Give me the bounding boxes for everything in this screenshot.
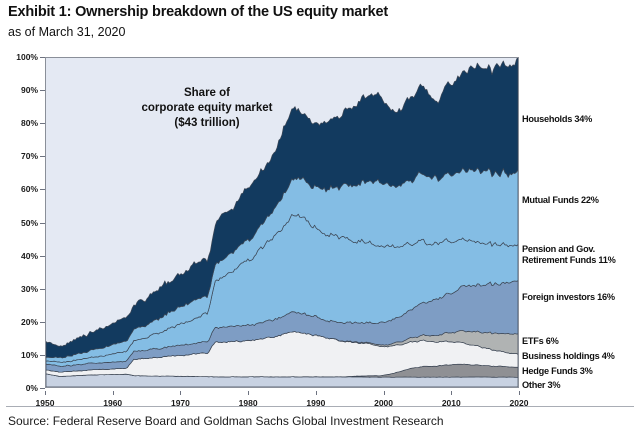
y-axis-tick-label: 50% [21,218,38,228]
annotation-line-3: ($43 trillion) [92,116,322,131]
x-axis-tick-mark [519,391,520,395]
y-axis-tick-label: 80% [21,118,38,128]
series-legend: Households 34%Mutual Funds 22%Pension an… [522,48,640,403]
chart-annotation: Share of corporate equity market ($43 tr… [92,86,322,132]
annotation-line-1: Share of [92,86,322,101]
series-label: Hedge Funds 3% [522,366,593,377]
series-label-text: ETFs 6% [522,336,559,347]
source-note: Source: Federal Reserve Board and Goldma… [8,414,444,428]
chart-container: 0%10%20%30%40%50%60%70%80%90%100% Share … [0,48,640,403]
series-label-text: Retirement Funds 11% [522,255,616,266]
x-axis-tick-mark [451,391,452,395]
x-axis-tick-mark [180,391,181,395]
series-label: Pension and Gov.Retirement Funds 11% [522,244,616,266]
y-axis-tick-mark [40,388,45,389]
series-label-text: Business holdings 4% [522,351,615,362]
series-label-text: Hedge Funds 3% [522,366,593,377]
x-axis-tick-mark [113,391,114,395]
series-label-text: Pension and Gov. [522,244,616,255]
y-axis-tick-label: 20% [21,317,38,327]
series-label: Households 34% [522,114,592,125]
x-axis-tick-mark [384,391,385,395]
x-axis-tick-mark [316,391,317,395]
series-label: Foreign investors 16% [522,292,615,303]
y-axis-tick-label: 100% [16,52,38,62]
footer-divider [6,406,634,407]
chart-page: Exhibit 1: Ownership breakdown of the US… [0,0,640,441]
y-axis-tick-label: 70% [21,151,38,161]
series-label: Mutual Funds 22% [522,195,599,206]
series-label-text: Households 34% [522,114,592,125]
series-label-text: Foreign investors 16% [522,292,615,303]
x-axis-tick-mark [45,391,46,395]
page-subtitle: as of March 31, 2020 [8,25,125,39]
y-axis-tick-label: 30% [21,284,38,294]
x-axis-tick-mark [248,391,249,395]
y-axis-tick-label: 40% [21,251,38,261]
y-axis-tick-label: 10% [21,350,38,360]
series-label: ETFs 6% [522,336,559,347]
y-axis-tick-label: 60% [21,184,38,194]
series-label-text: Mutual Funds 22% [522,195,599,206]
series-label: Business holdings 4% [522,351,615,362]
series-label-text: Other 3% [522,380,560,391]
series-label: Other 3% [522,380,560,391]
y-axis: 0%10%20%30%40%50%60%70%80%90%100% [0,48,44,397]
annotation-line-2: corporate equity market [92,101,322,116]
page-title: Exhibit 1: Ownership breakdown of the US… [8,4,388,20]
y-axis-tick-label: 90% [21,85,38,95]
